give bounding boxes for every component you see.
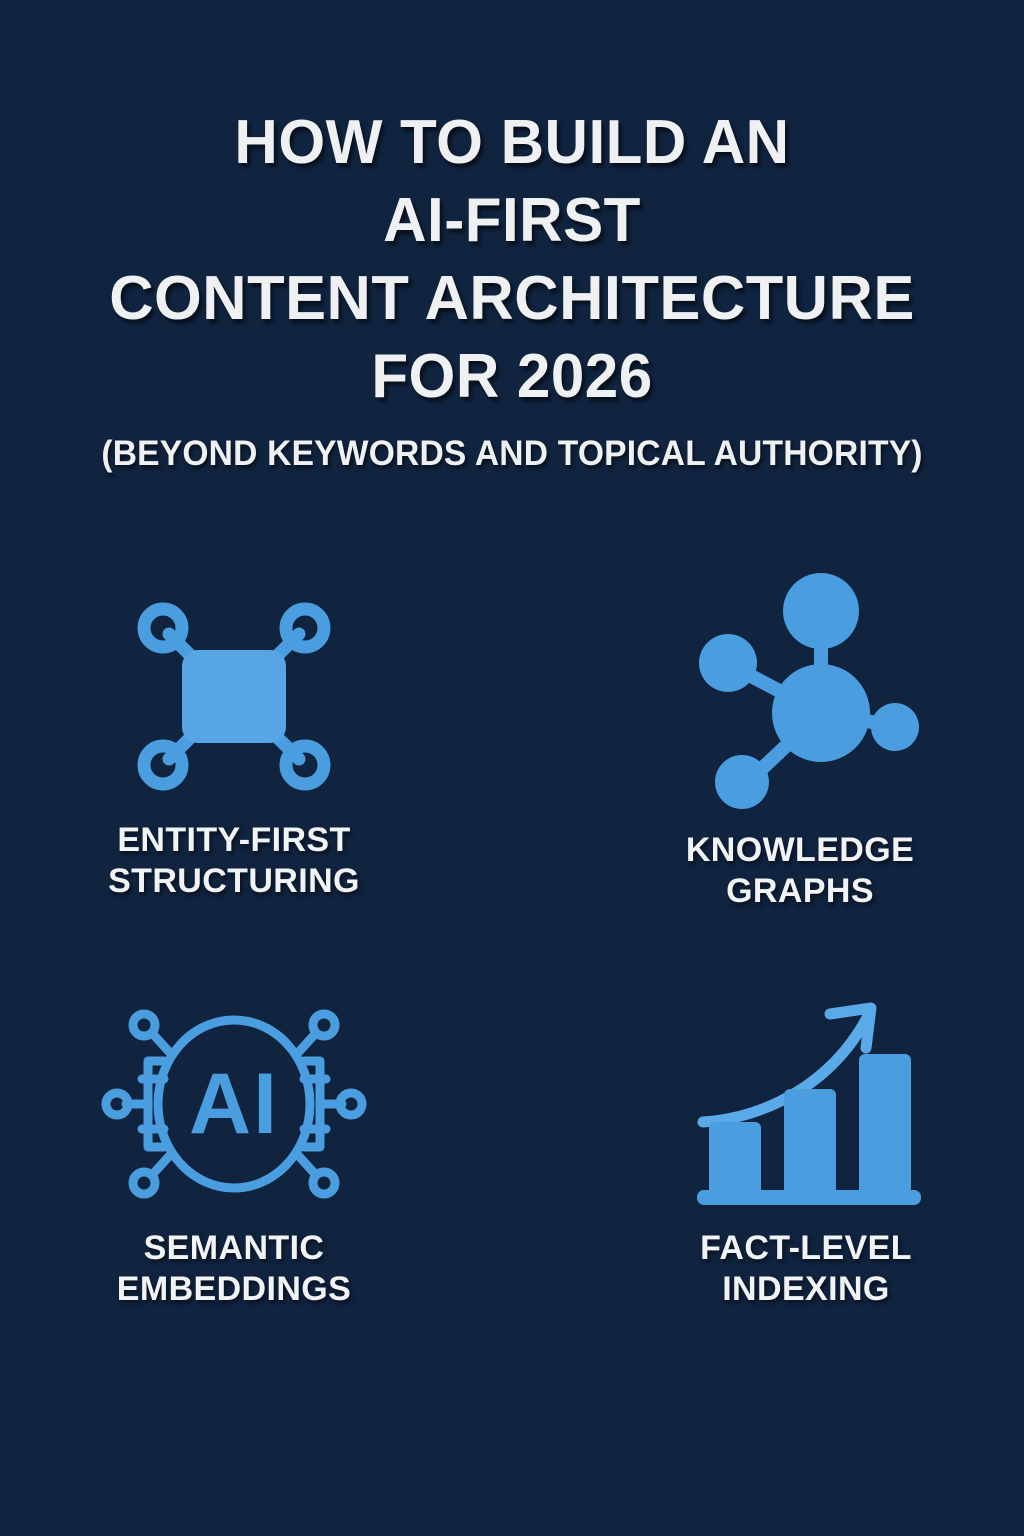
title-line-2: AI-FIRST [15, 190, 1008, 252]
feature-label: KNOWLEDGE GRAPHS [686, 830, 914, 913]
feature-grid: ENTITY-FIRST STRUCTURING [0, 560, 1024, 1360]
ai-chip-icon: AI [102, 974, 367, 1234]
subtitle: (BEYOND KEYWORDS AND TOPICAL AUTHORITY) [20, 434, 1003, 474]
feature-item-knowledge-graphs: KNOWLEDGE GRAPHS [512, 560, 1024, 960]
feature-item-fact-level-indexing: FACT-LEVEL INDEXING [512, 960, 1024, 1360]
feature-item-semantic-embeddings: AI SEMANTIC EMBEDDINGS [0, 960, 512, 1360]
entity-structure-icon [119, 566, 349, 826]
ai-icon-label: AI [189, 1056, 279, 1152]
title-block: HOW TO BUILD AN AI-FIRST CONTENT ARCHITE… [0, 112, 1024, 474]
feature-item-entity-first-structuring: ENTITY-FIRST STRUCTURING [0, 560, 512, 960]
title-line-1: HOW TO BUILD AN [15, 112, 1008, 174]
growth-bar-chart-icon [691, 974, 926, 1234]
title-line-4: FOR 2026 [15, 346, 1008, 408]
knowledge-graph-icon [684, 560, 924, 820]
feature-label: FACT-LEVEL INDEXING [700, 1228, 912, 1311]
title-line-3: CONTENT ARCHITECTURE [5, 268, 1019, 330]
feature-label: SEMANTIC EMBEDDINGS [117, 1228, 351, 1311]
feature-label: ENTITY-FIRST STRUCTURING [108, 820, 360, 903]
infographic-poster: HOW TO BUILD AN AI-FIRST CONTENT ARCHITE… [0, 0, 1024, 1536]
